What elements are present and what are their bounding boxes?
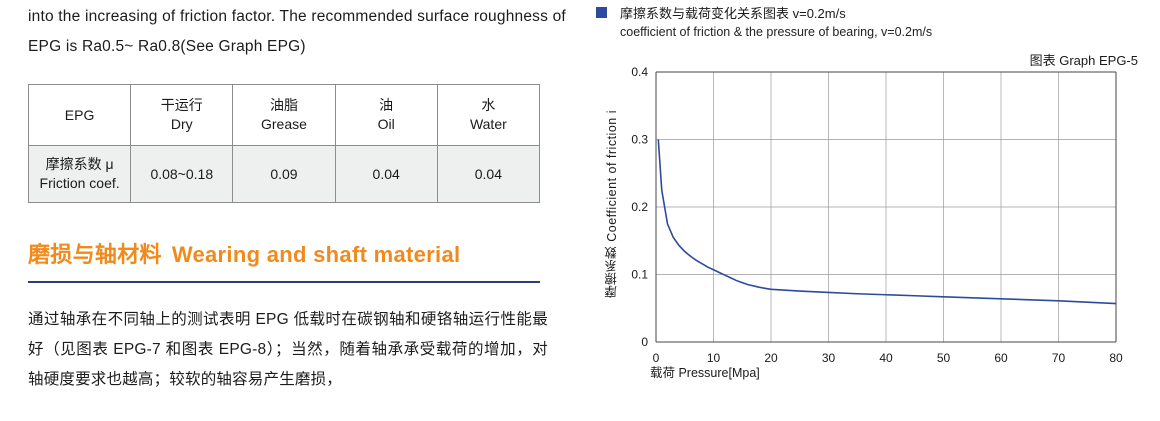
friction-coefficient-table: EPG 干运行 Dry 油脂 Grease 油 Oil 水 Water xyxy=(28,84,540,203)
section-heading-en: Wearing and shaft material xyxy=(172,242,461,267)
table-header-cell-epg: EPG xyxy=(29,85,131,146)
chart-series-line xyxy=(658,140,1116,304)
table-header-cell-grease: 油脂 Grease xyxy=(233,85,335,146)
svg-text:10: 10 xyxy=(707,351,721,365)
svg-text:0.4: 0.4 xyxy=(631,65,648,79)
cell-text-en: Friction coef. xyxy=(31,174,128,193)
body-paragraph: 通过轴承在不同轴上的测试表明 EPG 低载时在碳钢轴和硬铬轴运行性能最好（见图表… xyxy=(28,305,548,395)
cell-text-cn: EPG xyxy=(31,106,128,125)
cell-text-en: Grease xyxy=(235,115,332,134)
cell-text-en: Oil xyxy=(338,115,435,134)
section-heading-cn: 磨损与轴材料 xyxy=(28,242,162,267)
svg-text:60: 60 xyxy=(994,351,1008,365)
intro-paragraph: into the increasing of friction factor. … xyxy=(28,0,568,62)
cell-text-cn: 干运行 xyxy=(133,96,230,115)
left-content-column: into the increasing of friction factor. … xyxy=(28,0,568,411)
cell-text-cn: 水 xyxy=(440,96,537,115)
chart-gridlines xyxy=(656,72,1116,342)
table-header-cell-water: 水 Water xyxy=(437,85,539,146)
cell-text-en: Dry xyxy=(133,115,230,134)
table-header-cell-dry: 干运行 Dry xyxy=(131,85,233,146)
table-row: 摩擦系数 μ Friction coef. 0.08~0.18 0.09 0.0… xyxy=(29,146,540,203)
svg-text:30: 30 xyxy=(822,351,836,365)
chart-plot-area: 摩擦系数 Coefficient of friction i 载荷 Pressu… xyxy=(596,0,1156,421)
svg-text:0: 0 xyxy=(653,351,660,365)
table-header-cell-oil: 油 Oil xyxy=(335,85,437,146)
cell-text-cn: 油脂 xyxy=(235,96,332,115)
svg-text:0: 0 xyxy=(641,335,648,349)
cell-text-en: Water xyxy=(440,115,537,134)
chart-panel: 摩擦系数与载荷变化关系图表 v=0.2m/s coefficient of fr… xyxy=(596,0,1156,421)
svg-text:0.2: 0.2 xyxy=(631,200,648,214)
table-cell-dry-value: 0.08~0.18 xyxy=(131,146,233,203)
svg-text:70: 70 xyxy=(1052,351,1066,365)
svg-text:0.3: 0.3 xyxy=(631,133,648,147)
heading-divider xyxy=(28,281,540,283)
cell-text-cn: 油 xyxy=(338,96,435,115)
table-cell-grease-value: 0.09 xyxy=(233,146,335,203)
document-page: into the increasing of friction factor. … xyxy=(0,0,1160,421)
x-axis-ticks: 0 10 20 30 40 50 60 70 80 xyxy=(653,351,1123,365)
table-header-row: EPG 干运行 Dry 油脂 Grease 油 Oil 水 Water xyxy=(29,85,540,146)
section-heading: 磨损与轴材料Wearing and shaft material xyxy=(28,237,568,269)
table-cell-friction-label: 摩擦系数 μ Friction coef. xyxy=(29,146,131,203)
cell-text-cn: 摩擦系数 μ xyxy=(31,155,128,174)
svg-text:40: 40 xyxy=(879,351,893,365)
svg-text:0.1: 0.1 xyxy=(631,268,648,282)
svg-text:80: 80 xyxy=(1109,351,1123,365)
chart-svg: 0.4 0.3 0.2 0.1 0 0 10 20 30 40 50 60 70… xyxy=(596,0,1156,421)
svg-text:20: 20 xyxy=(764,351,778,365)
table-cell-water-value: 0.04 xyxy=(437,146,539,203)
y-axis-ticks: 0.4 0.3 0.2 0.1 0 xyxy=(631,65,648,349)
svg-text:50: 50 xyxy=(937,351,951,365)
table-cell-oil-value: 0.04 xyxy=(335,146,437,203)
